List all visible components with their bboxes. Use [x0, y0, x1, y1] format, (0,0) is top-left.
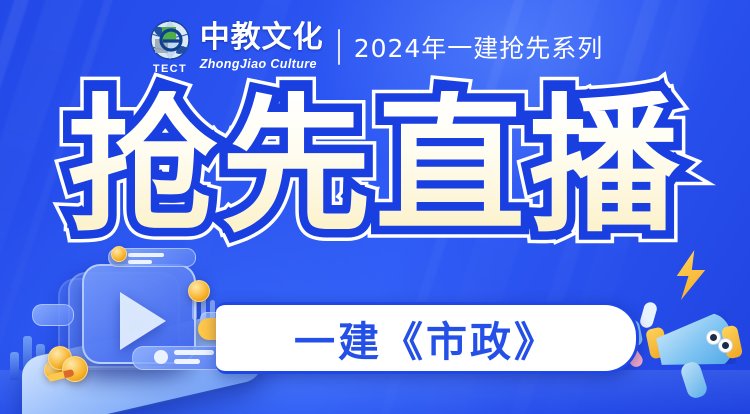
accent-line	[210, 300, 215, 320]
header-divider	[338, 29, 340, 65]
megaphone-handle	[679, 360, 709, 400]
eye-icon	[718, 338, 733, 353]
play-icon	[120, 292, 166, 350]
lightning-bolt-icon	[670, 250, 712, 300]
bar-shape	[10, 352, 19, 380]
coin-icon	[188, 280, 210, 302]
promo-banner: TECT 中教文化 ZhongJiao Culture 2024年一建抢先系列 …	[0, 0, 750, 414]
hero-title-fill: 抢先直播	[67, 91, 683, 241]
chip-dot	[154, 350, 168, 364]
chip-line	[174, 350, 214, 355]
globe-emblem-icon: TECT	[147, 19, 193, 75]
sound-ray	[639, 301, 659, 330]
hero-title: 抢先直播 抢先直播	[0, 86, 750, 246]
brand-name-en: ZhongJiao Culture	[200, 58, 317, 71]
brand-name-cn: 中教文化	[200, 23, 324, 53]
course-subtitle-text: 一建《市政》	[294, 308, 558, 368]
hero-title-word: 抢先直播 抢先直播	[67, 91, 683, 241]
course-subtitle-pill: 一建《市政》	[216, 302, 639, 374]
brand-wordmark: 中教文化 ZhongJiao Culture	[200, 23, 324, 71]
svg-text:TECT: TECT	[153, 63, 187, 75]
chip-line	[128, 260, 152, 264]
chip-line	[174, 359, 200, 364]
brand-logo: TECT 中教文化 ZhongJiao Culture	[147, 19, 324, 75]
info-chip	[32, 304, 74, 326]
series-tagline: 2024年一建抢先系列	[354, 29, 604, 65]
coin-icon	[62, 356, 88, 382]
chip-line	[128, 253, 164, 257]
megaphone-character	[624, 246, 750, 414]
banner-header: TECT 中教文化 ZhongJiao Culture 2024年一建抢先系列	[0, 16, 750, 78]
